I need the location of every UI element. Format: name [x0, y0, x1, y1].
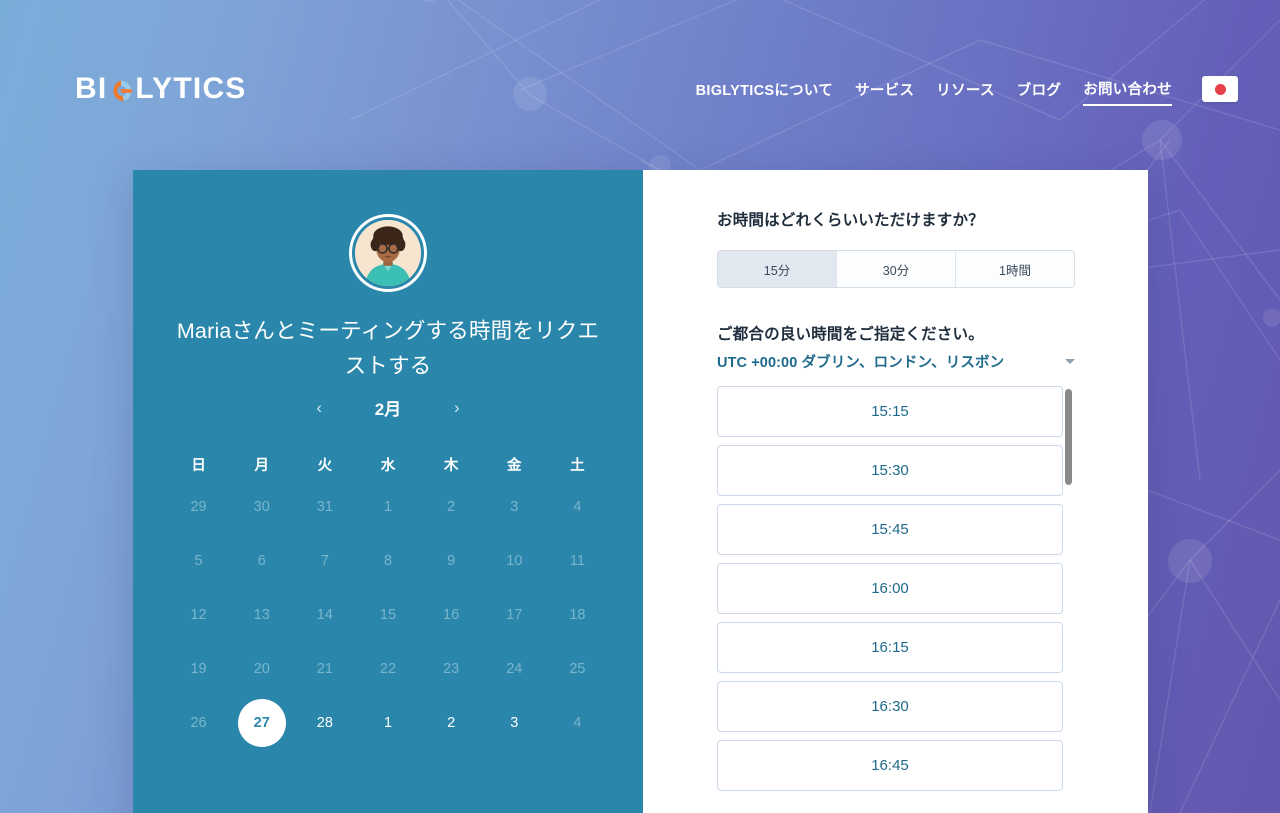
calendar-day: 3	[483, 480, 546, 534]
nav-item-blog[interactable]: ブログ	[1017, 79, 1061, 105]
duration-question-label: お時間はどれくらいいただけますか？	[717, 208, 1089, 230]
time-slot-list: 15:15 15:30 15:45 16:00 16:15 16:30 16:4…	[717, 386, 1089, 806]
weekday-wed: 水	[356, 450, 419, 480]
calendar-day-number: 10	[490, 537, 538, 585]
calendar-day: 18	[546, 588, 609, 642]
calendar-day: 9	[420, 534, 483, 588]
weekday-thu: 木	[420, 450, 483, 480]
calendar-day[interactable]: 2	[420, 696, 483, 750]
calendar-day-number: 5	[175, 537, 223, 585]
calendar-day-number: 14	[301, 591, 349, 639]
time-slot-button[interactable]: 16:15	[717, 622, 1063, 673]
calendar-day: 30	[230, 480, 293, 534]
calendar-day: 4	[546, 480, 609, 534]
brand-name-prefix: BI	[75, 72, 107, 106]
calendar-day-number: 6	[238, 537, 286, 585]
calendar-panel: Mariaさんとミーティングする時間をリクエストする ‹ 2月 › 日 月 火 …	[133, 170, 643, 813]
calendar-day[interactable]: 28	[293, 696, 356, 750]
next-month-icon[interactable]: ›	[454, 399, 460, 416]
calendar-day-number: 28	[301, 699, 349, 747]
calendar-day-number: 3	[490, 483, 538, 531]
calendar-day-selected[interactable]: 27	[230, 696, 293, 750]
time-slot-scrollbar[interactable]	[1065, 389, 1072, 803]
donut-chart-g-icon	[108, 78, 134, 104]
nav-item-resources[interactable]: リソース	[936, 79, 994, 105]
calendar-grid: 日 月 火 水 木 金 土 29 30 31 1 2 3 4	[167, 450, 609, 750]
time-slot-button[interactable]: 16:30	[717, 681, 1063, 732]
calendar-day-number: 21	[301, 645, 349, 693]
time-slot-button[interactable]: 15:30	[717, 445, 1063, 496]
calendar-day-number: 8	[364, 537, 412, 585]
calendar-day: 15	[356, 588, 419, 642]
calendar-day: 24	[483, 642, 546, 696]
calendar-day: 4	[546, 696, 609, 750]
site-header: BI LYTICS BIGLYTICSについて サービス リソース ブログ お問…	[0, 0, 1280, 178]
calendar-day-number: 31	[301, 483, 349, 531]
calendar-day-number: 2	[427, 483, 475, 531]
calendar-day: 22	[356, 642, 419, 696]
calendar-day-number: 22	[364, 645, 412, 693]
calendar-day: 5	[167, 534, 230, 588]
calendar-day-number: 25	[553, 645, 601, 693]
time-question-label: ご都合の良い時間をご指定ください。	[717, 322, 1089, 344]
calendar-day-number: 4	[553, 483, 601, 531]
nav-item-contact[interactable]: お問い合わせ	[1083, 78, 1172, 106]
calendar-week-row: 26 27 28 1 2 3 4	[167, 696, 609, 750]
duration-option-30min[interactable]: 30分	[837, 251, 956, 287]
time-slot-button[interactable]: 15:15	[717, 386, 1063, 437]
calendar-day: 2	[420, 480, 483, 534]
calendar-day-number: 18	[553, 591, 601, 639]
scrollbar-thumb[interactable]	[1065, 389, 1072, 485]
calendar-day[interactable]: 3	[483, 696, 546, 750]
calendar-day: 21	[293, 642, 356, 696]
calendar-day: 1	[356, 480, 419, 534]
nav-item-services[interactable]: サービス	[855, 79, 914, 105]
time-selection-panel: お時間はどれくらいいただけますか？ 15分 30分 1時間 ご都合の良い時間をご…	[643, 170, 1148, 813]
calendar-day: 31	[293, 480, 356, 534]
calendar-day-number: 13	[238, 591, 286, 639]
calendar-day-number: 23	[427, 645, 475, 693]
booking-card: Mariaさんとミーティングする時間をリクエストする ‹ 2月 › 日 月 火 …	[133, 170, 1148, 813]
weekday-mon: 月	[230, 450, 293, 480]
brand-name-suffix: LYTICS	[135, 72, 246, 106]
calendar-day-number: 17	[490, 591, 538, 639]
main-navigation: BIGLYTICSについて サービス リソース ブログ お問い合わせ	[696, 78, 1172, 106]
duration-option-15min[interactable]: 15分	[718, 251, 837, 287]
calendar-day: 17	[483, 588, 546, 642]
page-title: Mariaさんとミーティングする時間をリクエストする	[167, 314, 609, 385]
calendar-day: 29	[167, 480, 230, 534]
duration-option-1hour[interactable]: 1時間	[956, 251, 1074, 287]
time-slot-button[interactable]: 16:45	[717, 740, 1063, 791]
weekday-tue: 火	[293, 450, 356, 480]
calendar-day-number: 19	[175, 645, 223, 693]
nav-item-about[interactable]: BIGLYTICSについて	[696, 79, 833, 105]
calendar-day-number: 16	[427, 591, 475, 639]
calendar-day: 8	[356, 534, 419, 588]
calendar-day-number: 4	[553, 699, 601, 747]
weekday-fri: 金	[483, 450, 546, 480]
calendar-day-number: 26	[175, 699, 223, 747]
calendar-day: 12	[167, 588, 230, 642]
time-slot-items: 15:15 15:30 15:45 16:00 16:15 16:30 16:4…	[717, 386, 1063, 791]
calendar-day: 14	[293, 588, 356, 642]
weekday-sun: 日	[167, 450, 230, 480]
calendar-day: 19	[167, 642, 230, 696]
duration-selector: 15分 30分 1時間	[717, 250, 1075, 288]
calendar-day: 16	[420, 588, 483, 642]
calendar-day-number: 1	[364, 699, 412, 747]
timezone-selector[interactable]: UTC +00:00 ダブリン、ロンドン、リスボン	[717, 351, 1075, 372]
time-slot-button[interactable]: 15:45	[717, 504, 1063, 555]
page-root: BI LYTICS BIGLYTICSについて サービス リソース ブログ お問…	[0, 0, 1280, 813]
calendar-day-number: 29	[175, 483, 223, 531]
calendar-day: 11	[546, 534, 609, 588]
calendar-day: 25	[546, 642, 609, 696]
prev-month-icon[interactable]: ‹	[316, 399, 322, 416]
calendar-day-number: 7	[301, 537, 349, 585]
calendar-day-number: 15	[364, 591, 412, 639]
avatar	[349, 214, 427, 292]
month-navigation: ‹ 2月 ›	[167, 395, 609, 420]
calendar-week-row: 29 30 31 1 2 3 4	[167, 480, 609, 534]
calendar-day[interactable]: 1	[356, 696, 419, 750]
time-slot-button[interactable]: 16:00	[717, 563, 1063, 614]
avatar-illustration	[355, 220, 421, 286]
timezone-label: UTC +00:00 ダブリン、ロンドン、リスボン	[717, 351, 1004, 372]
brand-logo[interactable]: BI LYTICS	[75, 72, 247, 106]
calendar-day-number: 20	[238, 645, 286, 693]
calendar-day: 6	[230, 534, 293, 588]
calendar-week-row: 5 6 7 8 9 10 11	[167, 534, 609, 588]
weekday-sat: 土	[546, 450, 609, 480]
calendar-day-number: 27	[238, 699, 286, 747]
calendar-day: 26	[167, 696, 230, 750]
calendar-week-row: 19 20 21 22 23 24 25	[167, 642, 609, 696]
japan-flag-icon[interactable]	[1202, 76, 1238, 102]
calendar-weekday-header: 日 月 火 水 木 金 土	[167, 450, 609, 480]
flag-red-dot	[1215, 84, 1226, 95]
calendar-day-number: 3	[490, 699, 538, 747]
calendar-day-number: 30	[238, 483, 286, 531]
calendar-day: 13	[230, 588, 293, 642]
calendar-week-row: 12 13 14 15 16 17 18	[167, 588, 609, 642]
chevron-down-icon	[1065, 359, 1075, 364]
calendar-day-number: 24	[490, 645, 538, 693]
calendar-day-number: 9	[427, 537, 475, 585]
calendar-day-number: 11	[553, 537, 601, 585]
calendar-day-number: 2	[427, 699, 475, 747]
calendar-day: 20	[230, 642, 293, 696]
month-label: 2月	[366, 395, 410, 420]
calendar-day: 7	[293, 534, 356, 588]
calendar-day: 23	[420, 642, 483, 696]
calendar-day: 10	[483, 534, 546, 588]
calendar-day-number: 1	[364, 483, 412, 531]
calendar-day-number: 12	[175, 591, 223, 639]
